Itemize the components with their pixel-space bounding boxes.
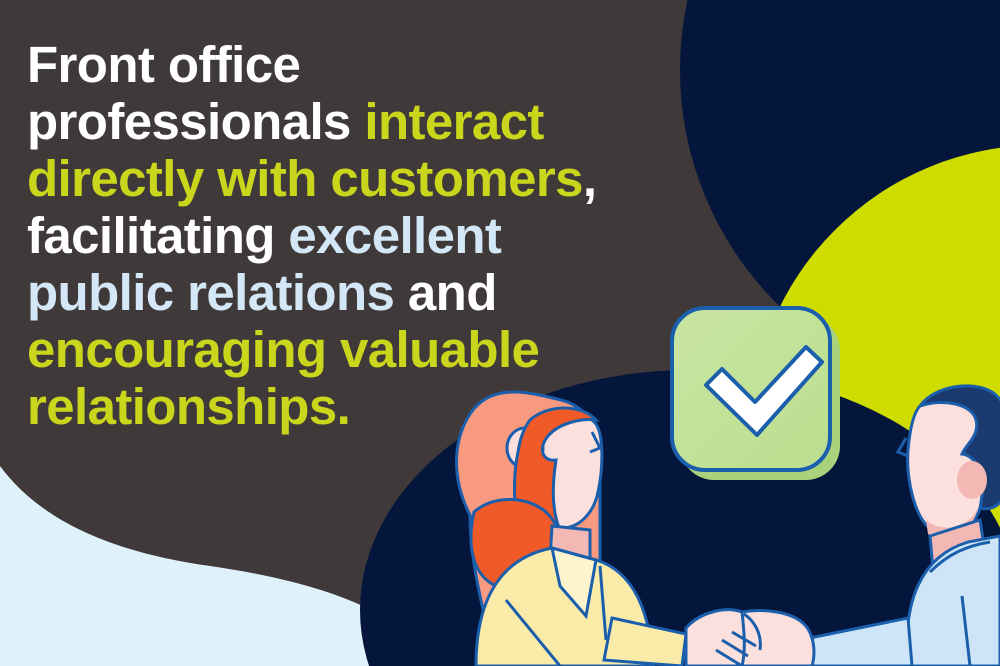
checkmark-card-body bbox=[672, 308, 830, 470]
right-figure-ear bbox=[957, 461, 987, 499]
checkmark-card bbox=[672, 308, 840, 480]
handshake bbox=[686, 610, 814, 666]
illustration-artwork bbox=[0, 0, 1000, 666]
poster-canvas: Front office professionals interact dire… bbox=[0, 0, 1000, 666]
